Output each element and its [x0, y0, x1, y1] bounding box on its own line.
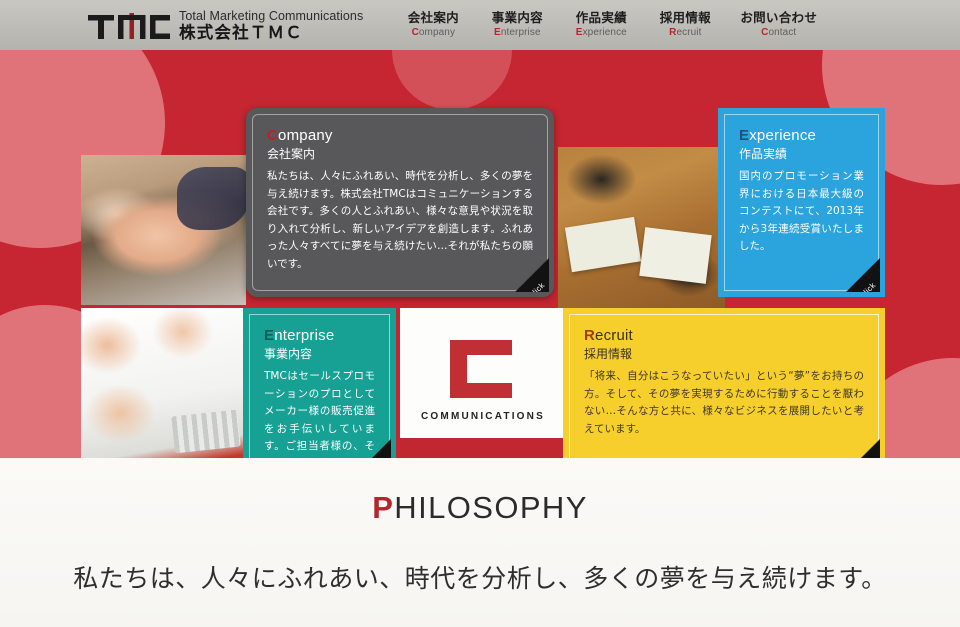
card-inner: Recruit 採用情報 「将来、自分はこうなっていたい」という“夢”をお持ちの… [569, 314, 879, 458]
tmc-logo-icon [88, 7, 170, 41]
hero-tile-grid: Company 会社案内 私たちは、人々にふれあい、時代を分析し、多くの夢を与え… [81, 108, 885, 458]
nav-label-en: Contact [761, 26, 796, 40]
logo-tagline-jp: 株式会社ＴＭＣ [179, 23, 363, 42]
nav-label-en: Experience [576, 26, 627, 40]
nav-label-en: Company [412, 26, 456, 40]
site-header: Total Marketing Communications 株式会社ＴＭＣ 会… [0, 0, 960, 50]
nav-item-recruit[interactable]: 採用情報 Recruit [643, 10, 727, 40]
brand-tile-red-bar [400, 438, 566, 458]
card-title-company: Company [267, 126, 533, 145]
nav-item-experience[interactable]: 作品実績 Experience [559, 10, 643, 40]
photo-art [81, 308, 245, 458]
photo-art [81, 155, 246, 305]
click-badge[interactable]: click [515, 258, 549, 292]
philosophy-section: PHILOSOPHY 私たちは、人々にふれあい、時代を分析し、多くの夢を与え続け… [0, 458, 960, 627]
nav-label-jp: 作品実績 [576, 10, 627, 26]
decorative-circle [392, 50, 512, 110]
card-subtitle-experience: 作品実績 [739, 146, 864, 163]
card-recruit[interactable]: Recruit 採用情報 「将来、自分はこうなっていたい」という“夢”をお持ちの… [563, 308, 885, 458]
card-subtitle-recruit: 採用情報 [584, 346, 864, 363]
card-enterprise[interactable]: Enterprise 事業内容 TMCはセールスプロモーションのプロとしてメーカ… [243, 308, 396, 458]
card-experience[interactable]: Experience 作品実績 国内のプロモーション業界における日本最大級のコン… [718, 108, 885, 297]
click-badge[interactable]: click [357, 439, 391, 458]
card-title-experience: Experience [739, 126, 864, 145]
brand-logo-word: COMMUNICATIONS [421, 411, 545, 422]
site-logo[interactable]: Total Marketing Communications 株式会社ＴＭＣ [88, 7, 363, 43]
click-badge[interactable]: click [846, 258, 880, 292]
nav-label-jp: 採用情報 [660, 10, 711, 26]
card-subtitle-enterprise: 事業内容 [264, 346, 375, 363]
card-body-company: 私たちは、人々にふれあい、時代を分析し、多くの夢を与え続けます。株式会社TMCは… [267, 168, 533, 273]
nav-label-en: Enterprise [494, 26, 541, 40]
hero-section: Company 会社案内 私たちは、人々にふれあい、時代を分析し、多くの夢を与え… [0, 50, 960, 458]
nav-label-en: Recruit [669, 26, 701, 40]
card-inner: Enterprise 事業内容 TMCはセールスプロモーションのプロとしてメーカ… [249, 314, 390, 458]
card-title-enterprise: Enterprise [264, 326, 375, 345]
nav-item-contact[interactable]: お問い合わせ Contact [727, 10, 830, 40]
brand-logo-tile: COMMUNICATIONS [400, 308, 566, 458]
nav-label-jp: 会社案内 [408, 10, 459, 26]
c-communications-logo-icon: COMMUNICATIONS [400, 338, 566, 422]
card-title-recruit: Recruit [584, 326, 864, 345]
philosophy-statement: 私たちは、人々にふれあい、時代を分析し、多くの夢を与え続けます。 [0, 559, 960, 595]
holding-hands-photo [81, 155, 246, 305]
nav-item-company[interactable]: 会社案内 Company [391, 10, 475, 40]
click-badge[interactable]: click [846, 439, 880, 458]
page-root: Total Marketing Communications 株式会社ＴＭＣ 会… [0, 0, 960, 627]
nav-label-jp: 事業内容 [492, 10, 543, 26]
card-subtitle-company: 会社案内 [267, 146, 533, 163]
card-body-experience: 国内のプロモーション業界における日本最大級のコンテストにて、2013年から3年連… [739, 168, 864, 256]
team-meeting-photo [558, 147, 725, 309]
photo-art [558, 147, 725, 309]
card-body-recruit: 「将来、自分はこうなっていたい」という“夢”をお持ちの方。そして、その夢を実現す… [584, 368, 864, 438]
logo-tagline-en: Total Marketing Communications [179, 9, 363, 23]
card-inner: Company 会社案内 私たちは、人々にふれあい、時代を分析し、多くの夢を与え… [252, 114, 548, 291]
desk-analysis-photo [81, 308, 245, 458]
nav-label-jp: お問い合わせ [740, 10, 817, 26]
card-company[interactable]: Company 会社案内 私たちは、人々にふれあい、時代を分析し、多くの夢を与え… [246, 108, 554, 297]
philosophy-heading: PHILOSOPHY [0, 490, 960, 526]
nav-item-enterprise[interactable]: 事業内容 Enterprise [475, 10, 559, 40]
logo-text-block: Total Marketing Communications 株式会社ＴＭＣ [179, 9, 363, 43]
main-navigation: 会社案内 Company 事業内容 Enterprise 作品実績 Experi… [391, 0, 830, 50]
